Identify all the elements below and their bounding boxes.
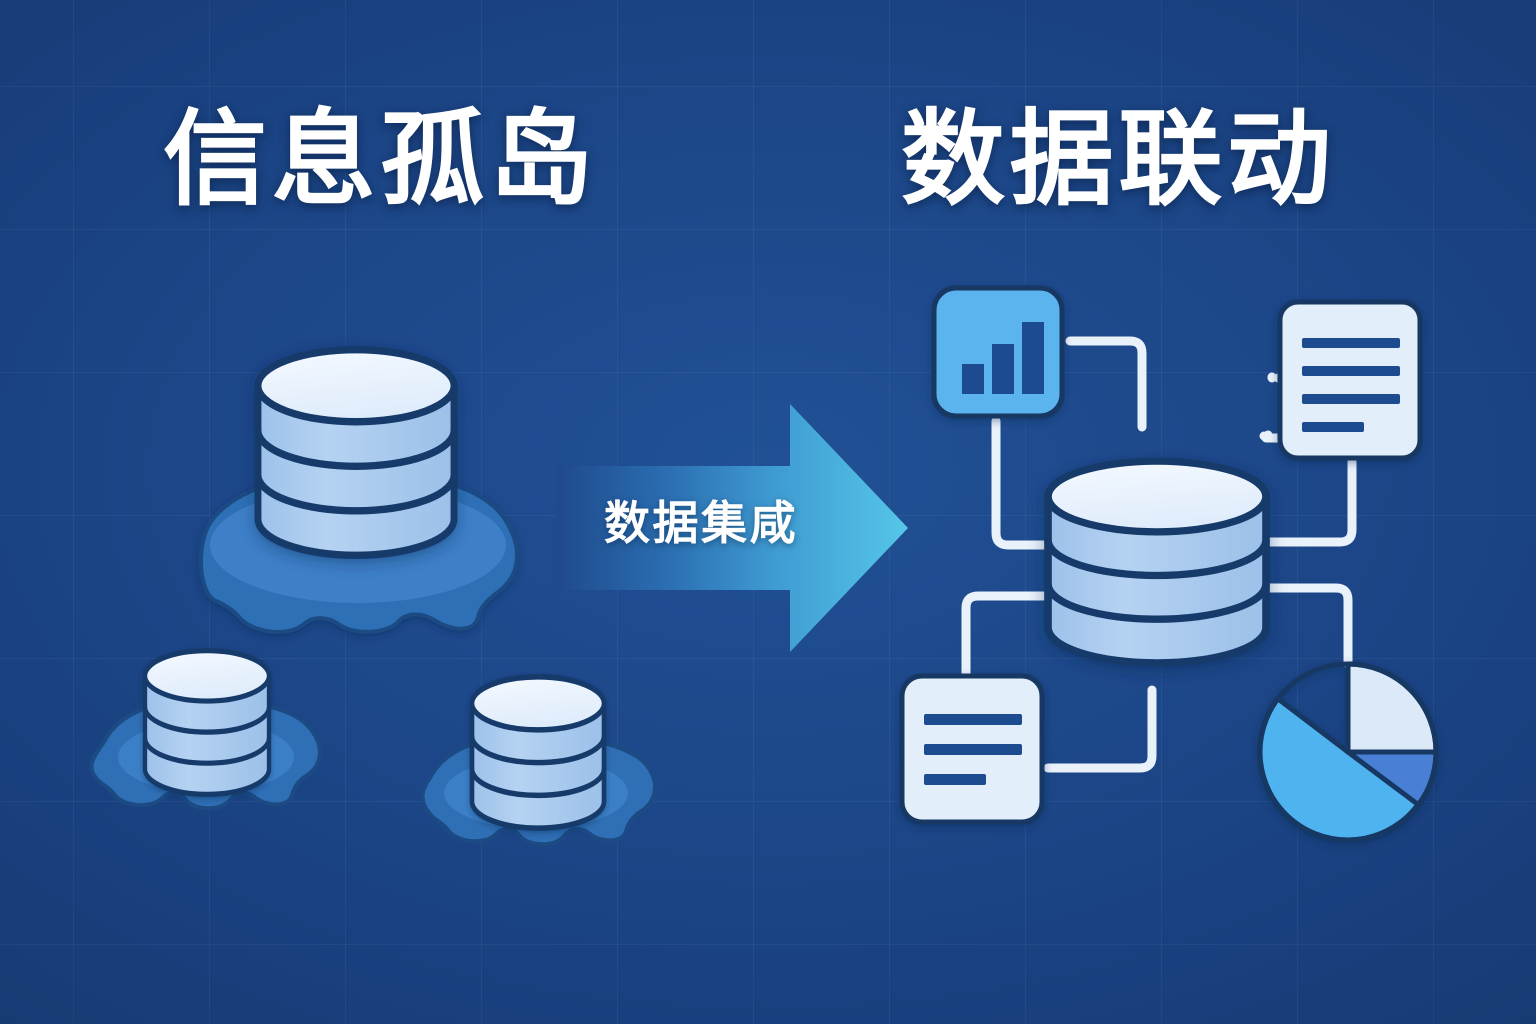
secondary-isolated-database: [145, 651, 269, 795]
left-silos-group: [91, 350, 655, 845]
connector-doc-topright-down: [1266, 462, 1352, 542]
infographic-canvas: 信息孤岛 数据联动 数据集咸: [0, 0, 1536, 1024]
bar-chart-bar-1: [962, 364, 984, 394]
doc-line: [924, 744, 1022, 755]
tertiary-isolated-database: [472, 677, 604, 828]
left-panel-title: 信息孤岛: [163, 108, 598, 212]
connector-barchart-to-db-top: [1070, 341, 1142, 427]
connector-db-to-doc-bottomleft: [1048, 690, 1152, 768]
doc-line: [1302, 394, 1400, 404]
pie-chart-node[interactable]: [1259, 664, 1436, 840]
doc-line: [924, 774, 986, 785]
doc-line: [1302, 338, 1400, 348]
doc-line: [924, 714, 1022, 725]
primary-isolated-database: [258, 350, 454, 556]
right-network-group: [902, 288, 1436, 840]
connector-doc-bottomleft-up: [966, 596, 1048, 682]
connector-db-to-piechart: [1266, 588, 1348, 664]
connector-barchart-to-db-left: [996, 421, 1052, 545]
doc-line: [1302, 422, 1364, 432]
central-unified-database: [1048, 461, 1266, 663]
arrow-label: 数据集咸: [604, 500, 798, 546]
doc-line: [1302, 366, 1400, 376]
bar-chart-bar-3: [1022, 322, 1044, 394]
right-panel-title: 数据联动: [901, 108, 1336, 212]
bar-chart-tile[interactable]: [934, 288, 1062, 416]
document-bottom-left[interactable]: [902, 676, 1042, 822]
bar-chart-bar-2: [992, 344, 1014, 394]
document-top-right[interactable]: [1280, 302, 1420, 458]
